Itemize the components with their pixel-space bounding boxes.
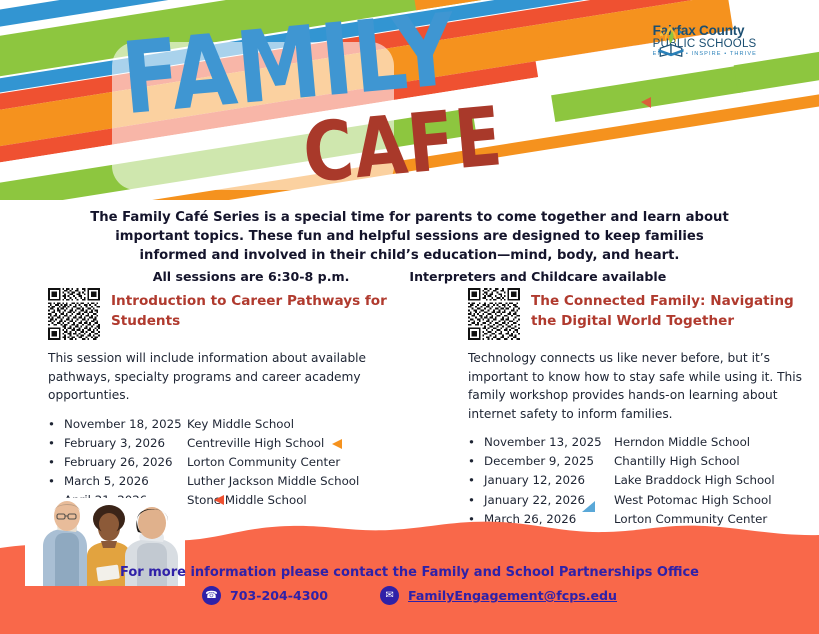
session-location: Key Middle School — [187, 415, 428, 434]
session-date: March 5, 2026 — [64, 472, 187, 491]
bullet-icon: • — [468, 471, 484, 490]
qr-code-career-pathways[interactable] — [48, 288, 100, 340]
session-title: The Connected Family: Navigating the Dig… — [531, 288, 813, 331]
arrow-marker-photo — [212, 494, 226, 508]
session-location: West Potomac High School — [614, 491, 813, 510]
session-block-career-pathways: Introduction to Career Pathways for Stud… — [48, 288, 428, 510]
session-date: November 18, 2025 — [64, 415, 187, 434]
session-header: The Connected Family: Navigating the Dig… — [468, 288, 813, 340]
list-item: • February 26, 2026 Lorton Community Cen… — [48, 453, 428, 472]
contact-email[interactable]: ✉ FamilyEngagement@fcps.edu — [380, 586, 617, 605]
session-date: January 12, 2026 — [484, 471, 614, 490]
bullet-icon: • — [468, 452, 484, 471]
session-date: November 13, 2025 — [484, 433, 614, 452]
footer-headline: For more information please contact the … — [0, 565, 819, 580]
contact-phone[interactable]: ☎ 703-204-4300 — [202, 586, 328, 605]
session-description: Technology connects us like never before… — [468, 349, 813, 423]
session-location: Lake Braddock High School — [614, 471, 813, 490]
session-location: Luther Jackson Middle School — [187, 472, 428, 491]
session-location: Lorton Community Center — [187, 453, 428, 472]
arrow-marker-right-column — [580, 500, 596, 516]
session-date: February 3, 2026 — [64, 434, 187, 453]
session-header: Introduction to Career Pathways for Stud… — [48, 288, 428, 340]
envelope-icon: ✉ — [380, 586, 399, 605]
list-item: • March 5, 2026 Luther Jackson Middle Sc… — [48, 472, 428, 491]
bullet-icon: • — [468, 491, 484, 510]
list-item: • January 12, 2026 Lake Braddock High Sc… — [468, 471, 813, 490]
phone-icon: ☎ — [202, 586, 221, 605]
intro-paragraph: The Family Café Series is a special time… — [82, 208, 737, 265]
session-date: December 9, 2025 — [484, 452, 614, 471]
session-date-list: • November 18, 2025 Key Middle School • … — [48, 415, 428, 511]
footer-contacts: ☎ 703-204-4300 ✉ FamilyEngagement@fcps.e… — [0, 586, 819, 605]
session-location: Herndon Middle School — [614, 433, 813, 452]
flyer-page: FAMILY CAFE Fairfax County PUBLIC SCHOOL… — [0, 0, 819, 634]
list-item: • February 3, 2026 Centreville High Scho… — [48, 434, 428, 453]
list-item: • November 13, 2025 Herndon Middle Schoo… — [468, 433, 813, 452]
email-link[interactable]: FamilyEngagement@fcps.edu — [408, 588, 617, 603]
bullet-icon: • — [48, 472, 64, 491]
bullet-icon: • — [48, 415, 64, 434]
arrow-marker-left-column — [330, 438, 344, 452]
bullet-icon: • — [48, 453, 64, 472]
fcps-book-flame-icon — [653, 24, 689, 58]
session-info-line: All sessions are 6:30-8 p.m. Interpreter… — [82, 269, 737, 284]
session-location: Chantilly High School — [614, 452, 813, 471]
list-item: • December 9, 2025 Chantilly High School — [468, 452, 813, 471]
session-time-note: All sessions are 6:30-8 p.m. — [153, 269, 350, 284]
session-date: February 26, 2026 — [64, 453, 187, 472]
session-location: Centreville High School — [187, 434, 428, 453]
session-description: This session will include information ab… — [48, 349, 428, 405]
bullet-icon: • — [468, 433, 484, 452]
session-title: Introduction to Career Pathways for Stud… — [111, 288, 428, 331]
session-services-note: Interpreters and Childcare available — [409, 269, 666, 284]
fcps-logo: Fairfax County PUBLIC SCHOOLS ENGAGE • I… — [653, 24, 757, 58]
bullet-icon: • — [48, 434, 64, 453]
header-banner-graphic: FAMILY CAFE Fairfax County PUBLIC SCHOOL… — [0, 0, 819, 200]
phone-number[interactable]: 703-204-4300 — [230, 588, 328, 603]
list-item: • January 22, 2026 West Potomac High Sch… — [468, 491, 813, 510]
qr-code-connected-family[interactable] — [468, 288, 520, 340]
list-item: • November 18, 2025 Key Middle School — [48, 415, 428, 434]
